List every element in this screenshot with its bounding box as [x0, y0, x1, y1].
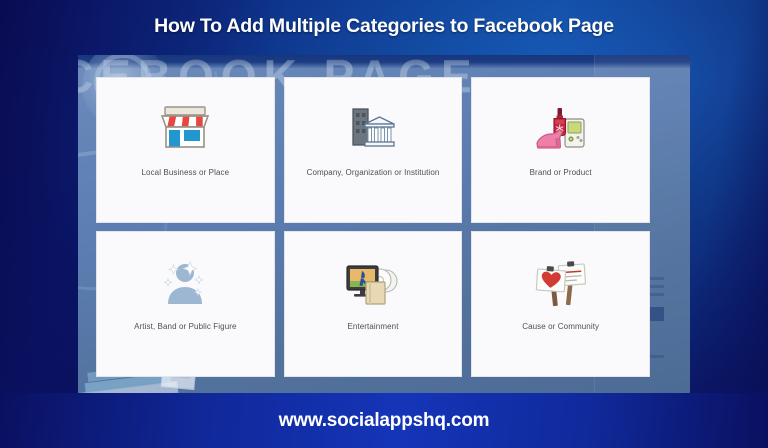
category-tile-entertainment[interactable]: Entertainment	[284, 231, 463, 377]
category-tile-label: Company, Organization or Institution	[307, 168, 440, 178]
screenshot-panel: CEBOOK PAGE	[78, 55, 690, 393]
shoe-nailpolish-game-icon	[532, 102, 590, 156]
category-tile-company[interactable]: Company, Organization or Institution	[284, 77, 463, 223]
category-tile-local-business[interactable]: Local Business or Place	[96, 77, 275, 223]
tv-disc-book-icon	[344, 256, 402, 310]
footer-bar: www.socialappshq.com	[0, 393, 768, 448]
category-tile-label: Cause or Community	[522, 322, 599, 332]
title-bar: How To Add Multiple Categories to Facebo…	[0, 0, 768, 52]
website-url: www.socialappshq.com	[279, 410, 490, 432]
category-tile-label: Artist, Band or Public Figure	[134, 322, 237, 332]
category-tile-artist[interactable]: Artist, Band or Public Figure	[96, 231, 275, 377]
category-grid: Local Business or Place	[96, 77, 650, 377]
office-building-icon	[344, 102, 402, 156]
category-tile-label: Brand or Product	[530, 168, 592, 178]
category-tile-label: Local Business or Place	[141, 168, 229, 178]
sparkling-person-icon	[156, 256, 214, 310]
heart-protest-signs-icon	[532, 256, 590, 310]
category-tile-brand[interactable]: Brand or Product	[471, 77, 650, 223]
storefront-icon	[156, 102, 214, 156]
category-tile-cause[interactable]: Cause or Community	[471, 231, 650, 377]
page-title: How To Add Multiple Categories to Facebo…	[154, 15, 614, 38]
category-tile-label: Entertainment	[347, 322, 398, 332]
